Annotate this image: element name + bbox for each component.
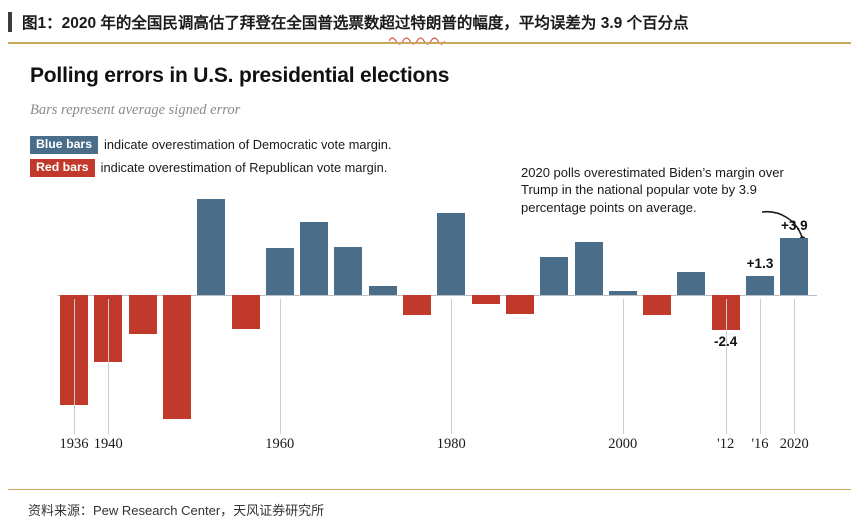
bar-1960 [266, 248, 294, 295]
header-divider [8, 42, 851, 44]
bar-2004 [643, 295, 671, 315]
axis-tick-2016 [760, 299, 761, 434]
bar-2016 [746, 276, 774, 295]
bar-1944 [129, 295, 157, 334]
bar-1952 [197, 199, 225, 295]
data-label-2012: -2.4 [696, 334, 756, 349]
bar-2000 [609, 291, 637, 295]
bar-1976 [403, 295, 431, 315]
data-label-2020: +3.9 [764, 218, 824, 233]
footer-divider [8, 489, 851, 490]
page-title: 图1：2020 年的全国民调高估了拜登在全国普选票数超过特朗普的幅度，平均误差为… [22, 11, 689, 33]
bar-2008 [677, 272, 705, 295]
bar-1948 [163, 295, 191, 419]
chart-figure: Polling errors in U.S. presidential elec… [0, 45, 859, 485]
bar-1956 [232, 295, 260, 329]
axis-tick-1940 [108, 299, 109, 434]
x-axis-label-1980: 1980 [421, 436, 481, 453]
bar-1984 [472, 295, 500, 304]
x-axis-label-2000: 2000 [593, 436, 653, 453]
source-note: 资料来源：Pew Research Center，天风证券研究所 [28, 500, 324, 519]
axis-tick-2012 [726, 299, 727, 434]
x-axis-label-2020: 2020 [764, 436, 824, 453]
axis-tick-2000 [623, 299, 624, 434]
bar-chart-plot: 19361940196019802000'12'162020 -2.4+1.3+… [0, 45, 859, 485]
bar-1996 [575, 242, 603, 295]
axis-tick-2020 [794, 299, 795, 434]
data-label-2016: +1.3 [730, 256, 790, 271]
bar-1988 [506, 295, 534, 314]
bar-1972 [369, 286, 397, 295]
header-accent-mark [8, 12, 12, 32]
bar-1968 [334, 247, 362, 295]
axis-tick-1980 [451, 299, 452, 434]
axis-tick-1960 [280, 299, 281, 434]
bar-1964 [300, 222, 328, 295]
x-axis-label-1940: 1940 [78, 436, 138, 453]
axis-tick-1936 [74, 299, 75, 434]
bar-1980 [437, 213, 465, 295]
bar-1992 [540, 257, 568, 295]
figure-header-bar: 图1：2020 年的全国民调高估了拜登在全国普选票数超过特朗普的幅度，平均误差为… [0, 0, 859, 45]
x-axis-label-1960: 1960 [250, 436, 310, 453]
